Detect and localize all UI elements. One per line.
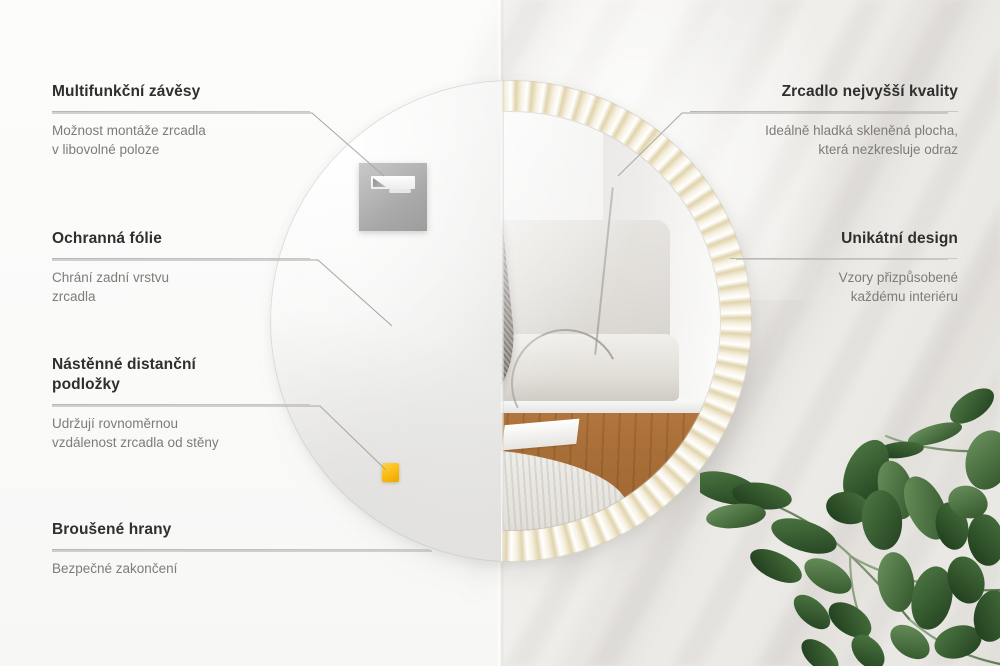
callout-description: Ideálně hladká skleněná plocha, která ne… [690, 121, 958, 160]
callout-description: Udržují rovnoměrnou vzdálenost zrcadla o… [52, 414, 310, 453]
callout-title: Unikátní design [730, 229, 958, 249]
callout-description: Možnost montáže zrcadla v libovolné polo… [52, 121, 310, 160]
round-mirror-product [270, 80, 752, 562]
callout-wall-spacers: Nástěnné distanční podložky Udržují rovn… [52, 355, 310, 453]
callout-description: Bezpečné zakončení [52, 559, 430, 579]
reflected-room-scene [501, 111, 721, 530]
callout-divider [690, 111, 958, 112]
callout-multifunctional-hangers: Multifunkční závěsy Možnost montáže zrca… [52, 82, 310, 160]
bracket-secondary-slot [389, 189, 411, 193]
callout-description: Vzory přizpůsobené každému interiéru [730, 268, 958, 307]
callout-title: Broušené hrany [52, 520, 430, 540]
callout-ground-edges: Broušené hrany Bezpečné zakončení [52, 520, 430, 578]
callout-title: Ochranná fólie [52, 229, 310, 249]
callout-divider [52, 258, 310, 259]
decorative-plant-leaves [700, 330, 1000, 666]
callout-title: Nástěnné distanční podložky [52, 355, 310, 395]
mirror-half-seam [501, 80, 504, 562]
bracket-keyhole-slot [371, 176, 415, 189]
callout-highest-quality-mirror: Zrcadlo nejvyšší kvality Ideálně hladká … [690, 82, 958, 160]
callout-divider [730, 258, 958, 259]
mirror-glass [501, 111, 721, 530]
callout-title: Zrcadlo nejvyšší kvality [690, 82, 958, 102]
hanging-bracket [359, 163, 427, 231]
infographic-canvas: Multifunkční závěsy Možnost montáže zrca… [0, 0, 1000, 666]
callout-unique-design: Unikátní design Vzory přizpůsobené každé… [730, 229, 958, 307]
callout-description: Chrání zadní vrstvu zrcadla [52, 268, 310, 307]
yellow-spacer-pad [382, 463, 399, 482]
callout-title: Multifunkční závěsy [52, 82, 310, 102]
callout-divider [52, 404, 310, 405]
callout-protective-film: Ochranná fólie Chrání zadní vrstvu zrcad… [52, 229, 310, 307]
mirror-disc [270, 80, 752, 562]
callout-divider [52, 111, 310, 112]
callout-divider [52, 549, 430, 550]
